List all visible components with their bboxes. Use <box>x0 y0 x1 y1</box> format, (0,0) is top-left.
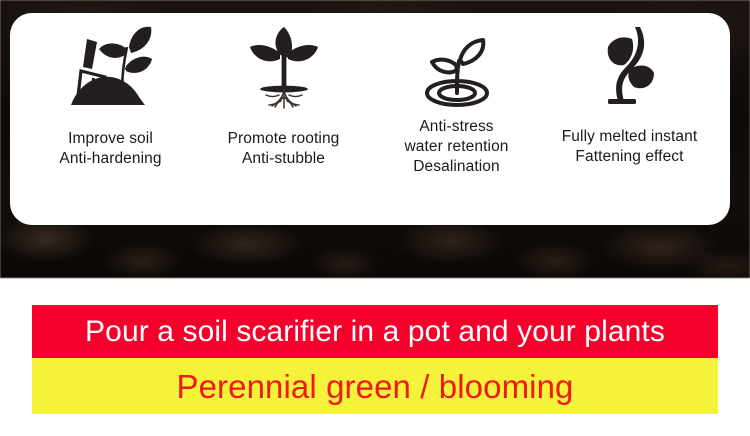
sprout-in-water-ripples-icon <box>407 13 507 121</box>
feature-item-anti-stress: Anti-stress water retention Desalination <box>370 13 543 177</box>
caption-line: Improve soil <box>59 129 161 149</box>
caption-line: Promote rooting <box>228 129 340 149</box>
feature-caption: Promote rooting Anti-stubble <box>228 129 340 169</box>
caption-line: Anti-hardening <box>59 149 161 169</box>
caption-line: water retention <box>404 137 508 157</box>
feature-row: Improve soil Anti-hardening <box>10 13 730 225</box>
caption-line: Anti-stubble <box>228 149 340 169</box>
feature-caption: Anti-stress water retention Desalination <box>404 117 508 177</box>
feature-card: Improve soil Anti-hardening <box>10 13 730 225</box>
feature-item-fully-melted: Fully melted instant Fattening effect <box>543 13 716 167</box>
caption-line: Fully melted instant <box>562 127 698 147</box>
yellow-promo-text: Perennial green / blooming <box>176 369 573 404</box>
red-promo-banner: Pour a soil scarifier in a pot and your … <box>32 305 718 358</box>
caption-line: Desalination <box>404 157 508 177</box>
yellow-promo-banner: Perennial green / blooming <box>32 358 718 414</box>
red-promo-text: Pour a soil scarifier in a pot and your … <box>85 316 665 348</box>
product-feature-banner: Improve soil Anti-hardening <box>0 0 750 436</box>
shovel-in-soil-with-plant-icon <box>61 13 161 121</box>
caption-line: Anti-stress <box>404 117 508 137</box>
caption-line: Fattening effect <box>562 147 698 167</box>
feature-item-promote-rooting: Promote rooting Anti-stubble <box>197 13 370 169</box>
feature-caption: Fully melted instant Fattening effect <box>562 127 698 167</box>
feature-item-improve-soil: Improve soil Anti-hardening <box>24 13 197 169</box>
feature-caption: Improve soil Anti-hardening <box>59 129 161 169</box>
curved-stem-two-leaves-icon <box>580 13 680 121</box>
seedling-with-roots-icon <box>234 13 334 121</box>
